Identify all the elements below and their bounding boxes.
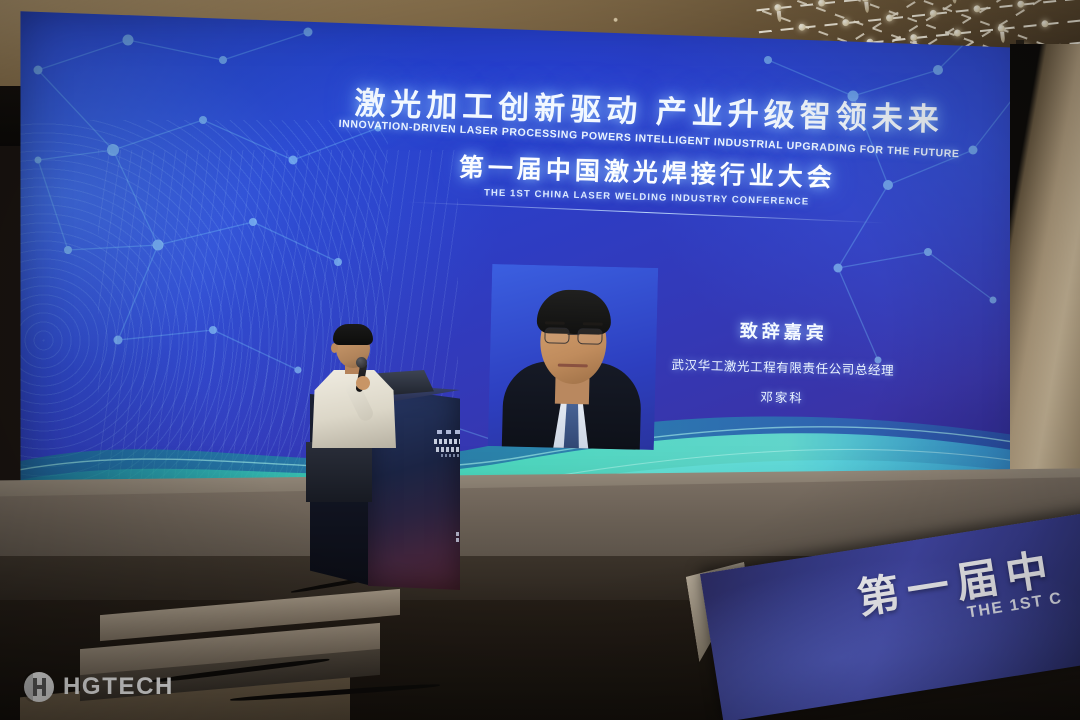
presenter-speaker — [300, 324, 410, 474]
speaker-portrait-photo — [488, 264, 658, 450]
watermark-brand-text: HGTECH — [63, 673, 174, 701]
watermark: HGTECH — [24, 672, 174, 702]
hgtech-logo-icon — [24, 672, 54, 702]
led-title-block: 激光加工创新驱动 产业升级智领未来 INNOVATION-DRIVEN LASE… — [336, 77, 959, 221]
eyeglasses-icon — [544, 327, 602, 343]
led-screen-backdrop: 激光加工创新驱动 产业升级智领未来 INNOVATION-DRIVEN LASE… — [8, 0, 1048, 512]
speaker-organization: 武汉华工激光工程有限责任公司总经理 — [648, 353, 918, 379]
speaker-info-block: 致辞嘉宾 武汉华工激光工程有限责任公司总经理 邓家科 — [647, 314, 919, 409]
conference-photo-scene: 激光加工创新驱动 产业升级智领未来 INNOVATION-DRIVEN LASE… — [0, 0, 1080, 720]
